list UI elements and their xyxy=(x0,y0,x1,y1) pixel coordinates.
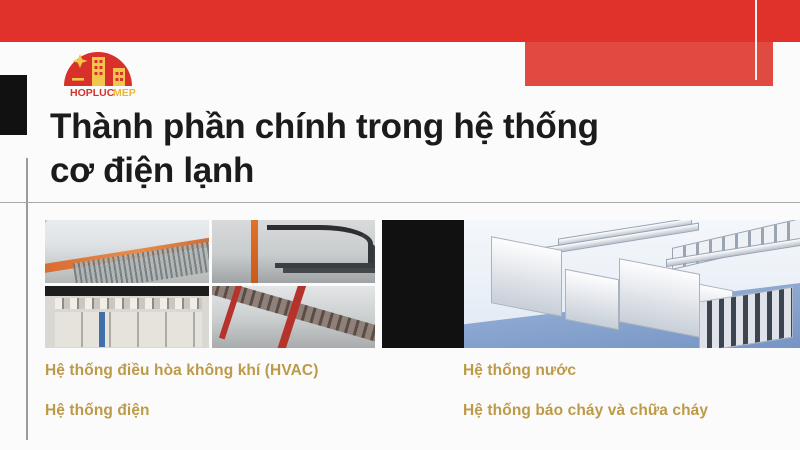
render-cabinet-2 xyxy=(565,269,619,331)
header-accent-block xyxy=(525,42,773,86)
slide-root: HOPLUC MEP Thành phần chính trong hệ thố… xyxy=(0,0,800,450)
header-red-band xyxy=(0,0,800,42)
caption-electrical: Hệ thống điện xyxy=(45,402,463,420)
horizontal-divider-rule xyxy=(0,202,800,203)
caption-water: Hệ thống nước xyxy=(463,362,785,380)
render-cabinet-1 xyxy=(491,236,562,316)
photo-conduit-bundles xyxy=(212,220,376,283)
hopluc-mep-logo: HOPLUC MEP xyxy=(58,46,144,98)
image-strip xyxy=(45,220,800,348)
logo-name-primary: HOPLUC xyxy=(70,87,115,98)
caption-fire-fighting: Hệ thống báo cháy và chữa cháy xyxy=(463,402,785,420)
header-white-tick xyxy=(755,0,757,80)
title-line-2: cơ điện lạnh xyxy=(50,149,750,193)
photo-switchgear-panels xyxy=(45,286,209,349)
caption-hvac: Hệ thống điều hòa không khí (HVAC) xyxy=(45,362,463,380)
caption-grid: Hệ thống điều hòa không khí (HVAC) Hệ th… xyxy=(45,362,785,420)
photo-collage xyxy=(45,220,375,348)
photo-factory-ceiling-cable-tray xyxy=(45,220,209,283)
page-title: Thành phần chính trong hệ thống cơ điện … xyxy=(50,105,750,193)
photo-isometric-busway-render xyxy=(464,220,800,348)
vertical-divider-rule xyxy=(26,158,28,440)
collage-divider-block xyxy=(382,220,464,348)
logo-icon: HOPLUC MEP xyxy=(58,46,144,98)
logo-name-secondary: MEP xyxy=(113,87,136,98)
left-black-marker xyxy=(0,75,27,135)
title-line-1: Thành phần chính trong hệ thống xyxy=(50,107,599,146)
photo-cable-ladder-tray xyxy=(212,286,376,349)
